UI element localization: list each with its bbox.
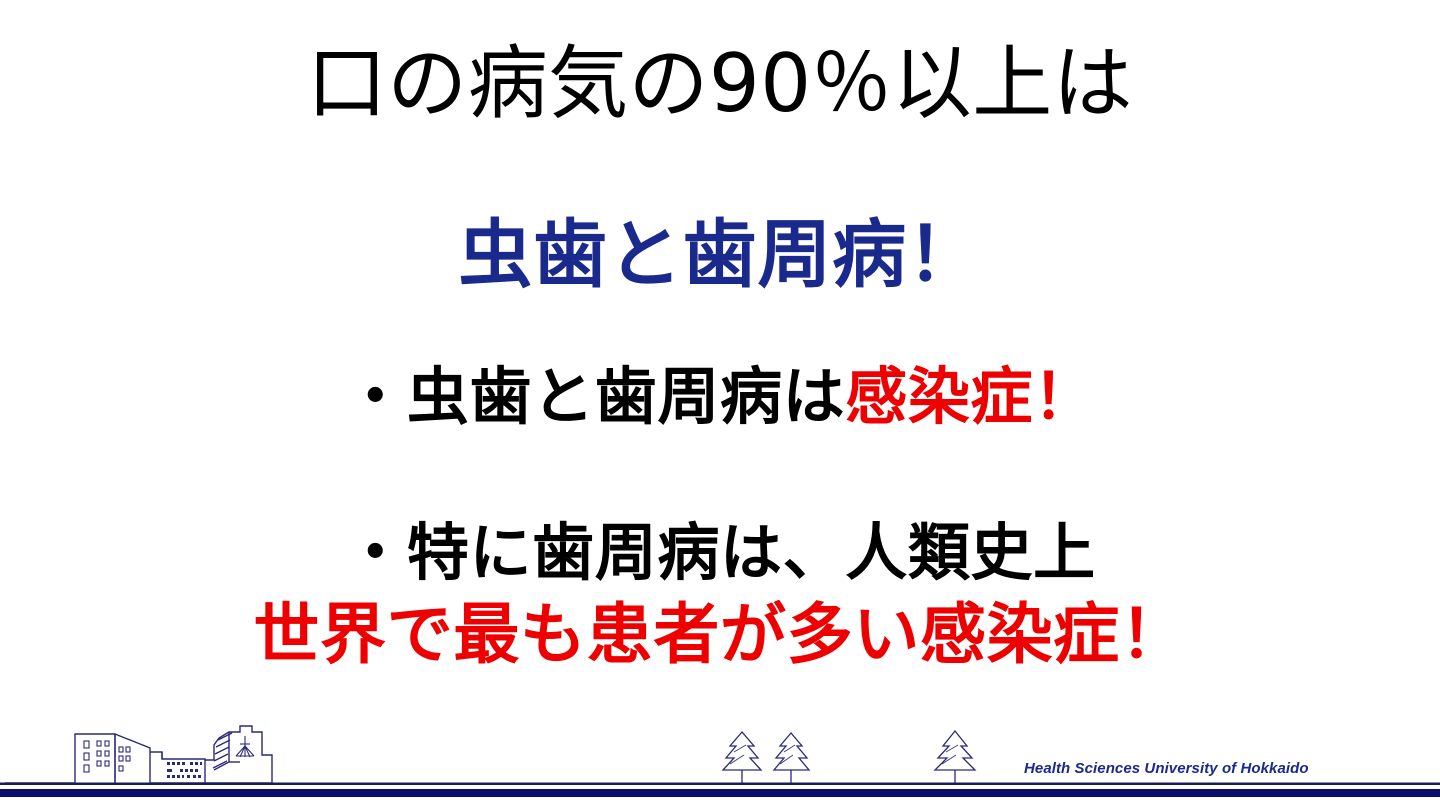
bullet-marker-2: ・ xyxy=(344,516,407,589)
slide-canvas: 口の病気の90％以上は 虫歯と歯周病！ ・虫歯と歯周病は感染症！ ・特に歯周病は… xyxy=(0,0,1440,810)
slide-headline: 虫歯と歯周病！ xyxy=(0,218,1440,292)
bullet-emphasis-1: 感染症！ xyxy=(845,360,1095,433)
bullet-marker-1: ・ xyxy=(344,360,407,433)
slide-title: 口の病気の90％以上は xyxy=(0,44,1440,124)
footer-thick-rule xyxy=(0,789,1440,797)
footer-university-wordmark: Health Sciences University of Hokkaido xyxy=(1024,760,1309,777)
bullet-text-2: 特に歯周病は、人類史上 xyxy=(407,516,1096,589)
pine-tree-icon xyxy=(723,732,761,783)
tower-emblem-icon xyxy=(236,736,254,757)
bullet-item-1: ・虫歯と歯周病は感染症！ xyxy=(0,366,1440,428)
bullet-item-2: ・特に歯周病は、人類史上 xyxy=(0,522,1440,584)
bullet-text-1: 虫歯と歯周病は xyxy=(407,360,845,433)
footer-thin-rule xyxy=(0,783,1440,785)
pine-tree-icon xyxy=(935,731,975,783)
pine-tree-icon xyxy=(774,733,809,783)
building-window-band xyxy=(167,762,202,778)
campus-skyline-icon xyxy=(5,726,272,783)
bullet-emphasis-2: 世界で最も患者が多い感染症！ xyxy=(0,602,1440,668)
building-windows xyxy=(84,741,130,772)
